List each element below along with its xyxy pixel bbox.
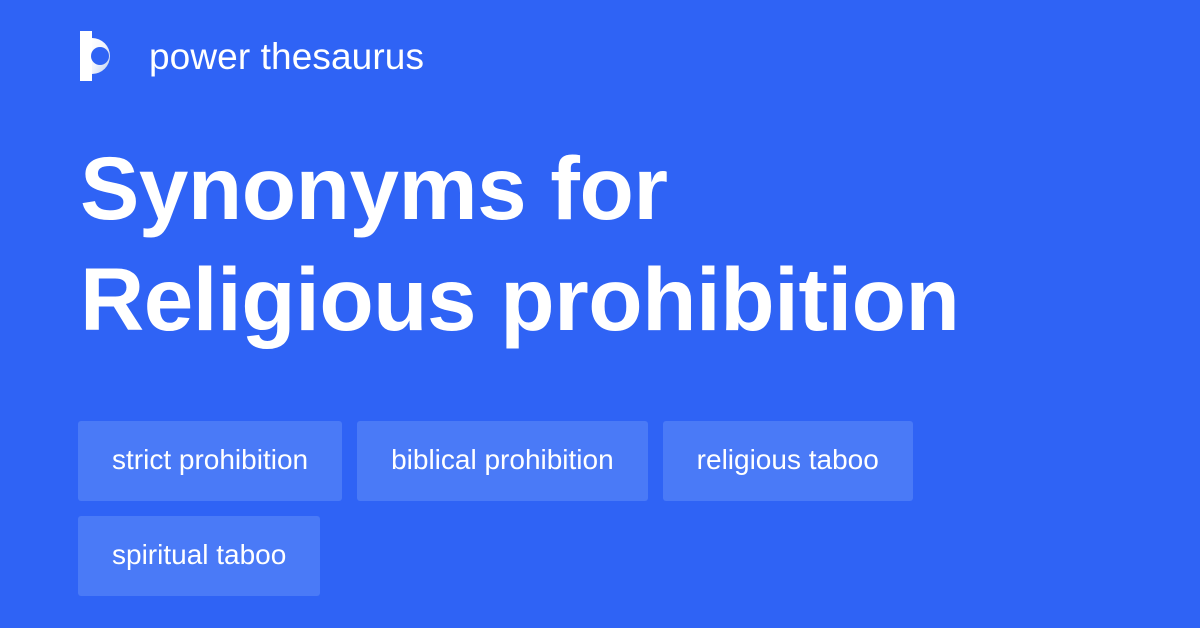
synonym-chip[interactable]: spiritual taboo [78,516,320,596]
page-title: Synonyms for Religious prohibition [80,133,1040,355]
synonym-list: strict prohibition biblical prohibition … [78,421,1128,596]
power-thesaurus-b-mark-icon [80,31,124,81]
synonym-chip[interactable]: religious taboo [663,421,913,501]
brand-name: power thesaurus [149,38,424,75]
share-card: power thesaurus Synonyms for Religious p… [0,0,1200,628]
synonym-chip[interactable]: strict prohibition [78,421,342,501]
brand-logo[interactable]: power thesaurus [80,30,424,82]
synonym-chip[interactable]: biblical prohibition [357,421,648,501]
